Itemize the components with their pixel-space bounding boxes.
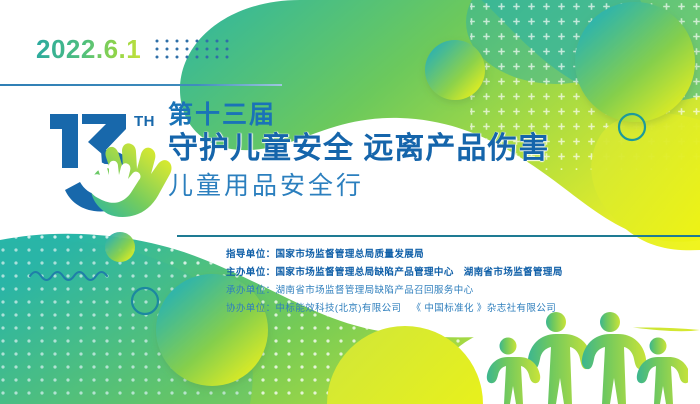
circle-small-mid-left: [105, 232, 135, 262]
organizer-value: 中标能效科技(北京)有限公司: [276, 300, 402, 314]
top-divider-line: [0, 84, 282, 86]
organizer-label: 主办单位：: [226, 264, 276, 278]
headline-edition: 第十三届: [168, 101, 549, 129]
right-yellow-lobe: [591, 113, 700, 250]
helping-hands-icon: TH: [38, 96, 173, 226]
circle-large-top-right: [575, 2, 695, 122]
organizer-value: 国家市场监督管理总局缺陷产品管理中心: [276, 264, 454, 278]
headline-block: 第十三届 守护儿童安全 远离产品伤害 儿童用品安全行: [168, 101, 549, 201]
organizer-label: 承办单位：: [226, 282, 276, 296]
organizer-row: 指导单位： 国家市场监督管理总局质量发展局: [226, 246, 563, 260]
poster-canvas: 2022.6.1: [0, 0, 700, 404]
headline-main: 守护儿童安全 远离产品伤害: [168, 131, 549, 168]
circle-small-top-mid: [425, 40, 485, 100]
organizer-value-extra: 湖南省市场监督管理局: [464, 264, 563, 278]
dot-grid-icon: [154, 37, 230, 61]
organizer-label: 指导单位：: [226, 246, 276, 260]
event-date-row: 2022.6.1: [36, 36, 230, 62]
logo-digit-one: [50, 114, 78, 168]
mid-divider-line: [177, 235, 700, 237]
family-figure-child-right: [637, 338, 688, 404]
organizer-row: 主办单位： 国家市场监督管理总局缺陷产品管理中心 湖南省市场监督管理局: [226, 264, 563, 278]
family-group-icon: [478, 312, 688, 404]
event-date: 2022.6.1: [36, 36, 141, 62]
organizer-value: 湖南省市场监督管理局缺陷产品召回服务中心: [276, 282, 474, 296]
organizer-row: 承办单位： 湖南省市场监督管理局缺陷产品召回服务中心: [226, 282, 563, 296]
family-figure-adult-right: [582, 312, 646, 404]
headline-sub: 儿童用品安全行: [168, 171, 549, 201]
organizer-list: 指导单位： 国家市场监督管理总局质量发展局 主办单位： 国家市场监督管理总局缺陷…: [226, 246, 563, 314]
organizer-label: 协办单位：: [226, 300, 276, 314]
logo-ordinal: TH: [134, 113, 155, 130]
logo-digit-three-top: [82, 114, 126, 154]
organizer-value: 国家市场监督管理总局质量发展局: [276, 246, 425, 260]
